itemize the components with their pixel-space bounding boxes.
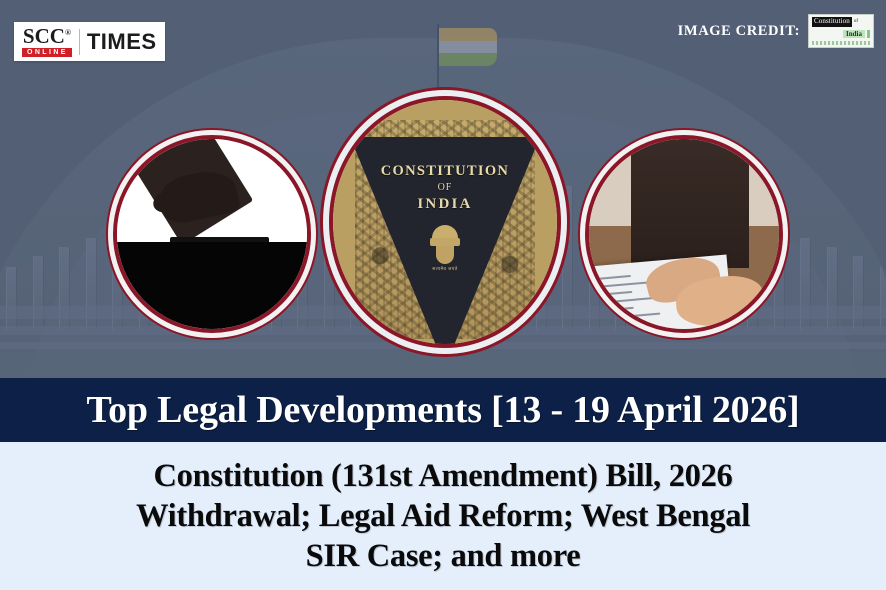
poster-canvas: CONSTITUTION OF INDIA सत्यमेव जयते bbox=[0, 0, 886, 590]
credit-badge-of: of bbox=[854, 19, 858, 24]
emblem-motto: सत्यमेव जयते bbox=[432, 266, 457, 272]
ballot-box-photo bbox=[113, 135, 311, 333]
credit-badge-line1: Constitution bbox=[812, 17, 852, 27]
image-credit-label: IMAGE CREDIT: bbox=[678, 23, 800, 40]
subtitle-band: Constitution (131st Amendment) Bill, 202… bbox=[0, 442, 886, 590]
book-title-line1: CONSTITUTION bbox=[381, 163, 509, 180]
scc-online-mark: SCC® ONLINE bbox=[22, 26, 72, 57]
page-subtitle: Constitution (131st Amendment) Bill, 202… bbox=[136, 456, 750, 577]
subtitle-line-1: Constitution (131st Amendment) Bill, 202… bbox=[153, 458, 732, 494]
logo-divider bbox=[79, 29, 80, 55]
signing-document-photo bbox=[585, 135, 783, 333]
page-title: Top Legal Developments [13 - 19 April 20… bbox=[86, 388, 799, 432]
credit-badge-line2: India bbox=[843, 30, 865, 38]
logo-online-text: ONLINE bbox=[22, 48, 72, 57]
logo-scc-text: SCC® bbox=[23, 26, 71, 47]
subtitle-line-3: SIR Case; and more bbox=[306, 538, 581, 574]
title-band: Top Legal Developments [13 - 19 April 20… bbox=[0, 378, 886, 442]
scc-online-times-logo[interactable]: SCC® ONLINE TIMES bbox=[14, 22, 165, 61]
book-title-line3: INDIA bbox=[417, 196, 472, 213]
subtitle-line-2: Withdrawal; Legal Aid Reform; West Benga… bbox=[136, 498, 750, 534]
ashoka-emblem-icon: सत्यमेव जयते bbox=[428, 225, 462, 271]
logo-times-text: TIMES bbox=[87, 29, 157, 55]
image-credit: IMAGE CREDIT: Constitution of India bbox=[678, 14, 874, 48]
image-credit-badge: Constitution of India bbox=[808, 14, 874, 48]
book-title-of: OF bbox=[438, 182, 453, 193]
constitution-of-india-book: CONSTITUTION OF INDIA सत्यमेव जयते bbox=[329, 96, 561, 348]
